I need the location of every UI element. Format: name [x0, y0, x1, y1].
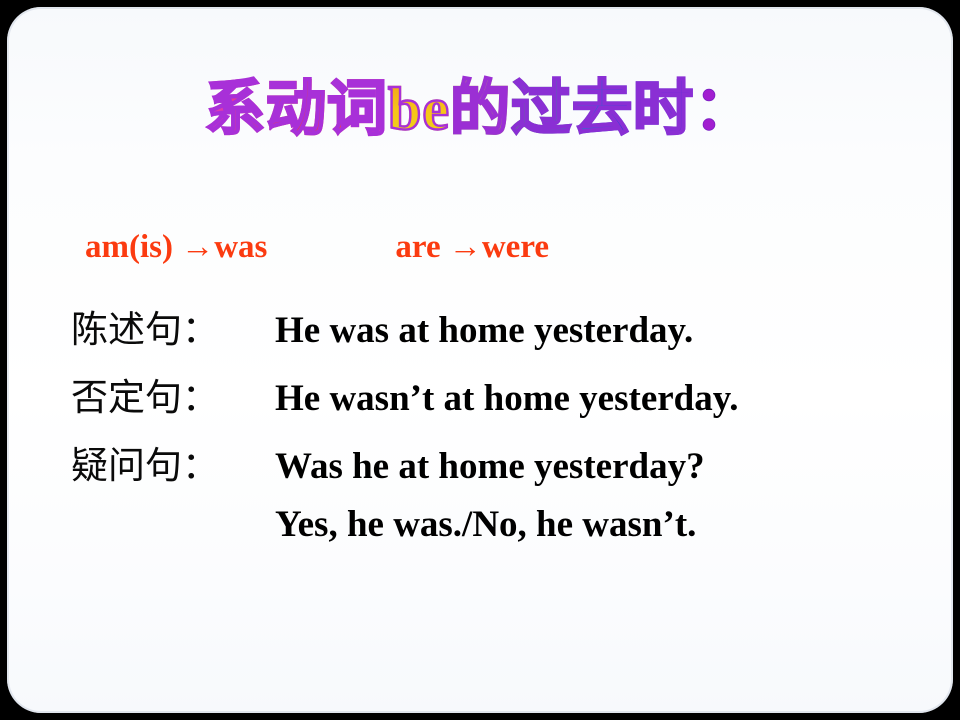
sentence-label-negative: 否定句：	[71, 367, 275, 421]
verb-forms-row: am(is) →wasare →were	[85, 229, 905, 266]
verb-pair-am-is-was: am(is) →was	[85, 229, 267, 265]
title-segment-xidongci: 系动词	[205, 79, 388, 139]
slide-root: 系动词be的过去时： am(is) →wasare →were 陈述句：He w…	[0, 0, 960, 720]
title-segment-de: 的	[450, 79, 511, 139]
sentence-label-statement: 陈述句：	[71, 299, 275, 353]
sentence-english-question: Was he at home yesterday?	[275, 445, 705, 488]
verb-pair-are-were: are →were	[395, 229, 549, 266]
sentence-row-statement: 陈述句：He was at home yesterday.	[71, 299, 951, 353]
sentence-label-question: 疑问句：	[71, 435, 275, 489]
sentence-row-question: 疑问句：Was he at home yesterday?	[71, 435, 951, 489]
sentence-row-answer: Yes, he was./No, he wasn’t.	[275, 503, 953, 546]
title-segment-guoqushi: 过去时	[511, 79, 694, 139]
title-segment-colon: ：	[694, 79, 755, 139]
sentence-english-statement: He was at home yesterday.	[275, 309, 693, 352]
slide-title: 系动词be的过去时：	[7, 79, 953, 139]
slide-panel: 系动词be的过去时： am(is) →wasare →were 陈述句：He w…	[7, 7, 953, 713]
title-segment-be: be	[388, 79, 450, 139]
title-text: 系动词be的过去时：	[205, 79, 755, 139]
sentence-english-negative: He wasn’t at home yesterday.	[275, 377, 738, 420]
sentence-row-negative: 否定句：He wasn’t at home yesterday.	[71, 367, 951, 421]
